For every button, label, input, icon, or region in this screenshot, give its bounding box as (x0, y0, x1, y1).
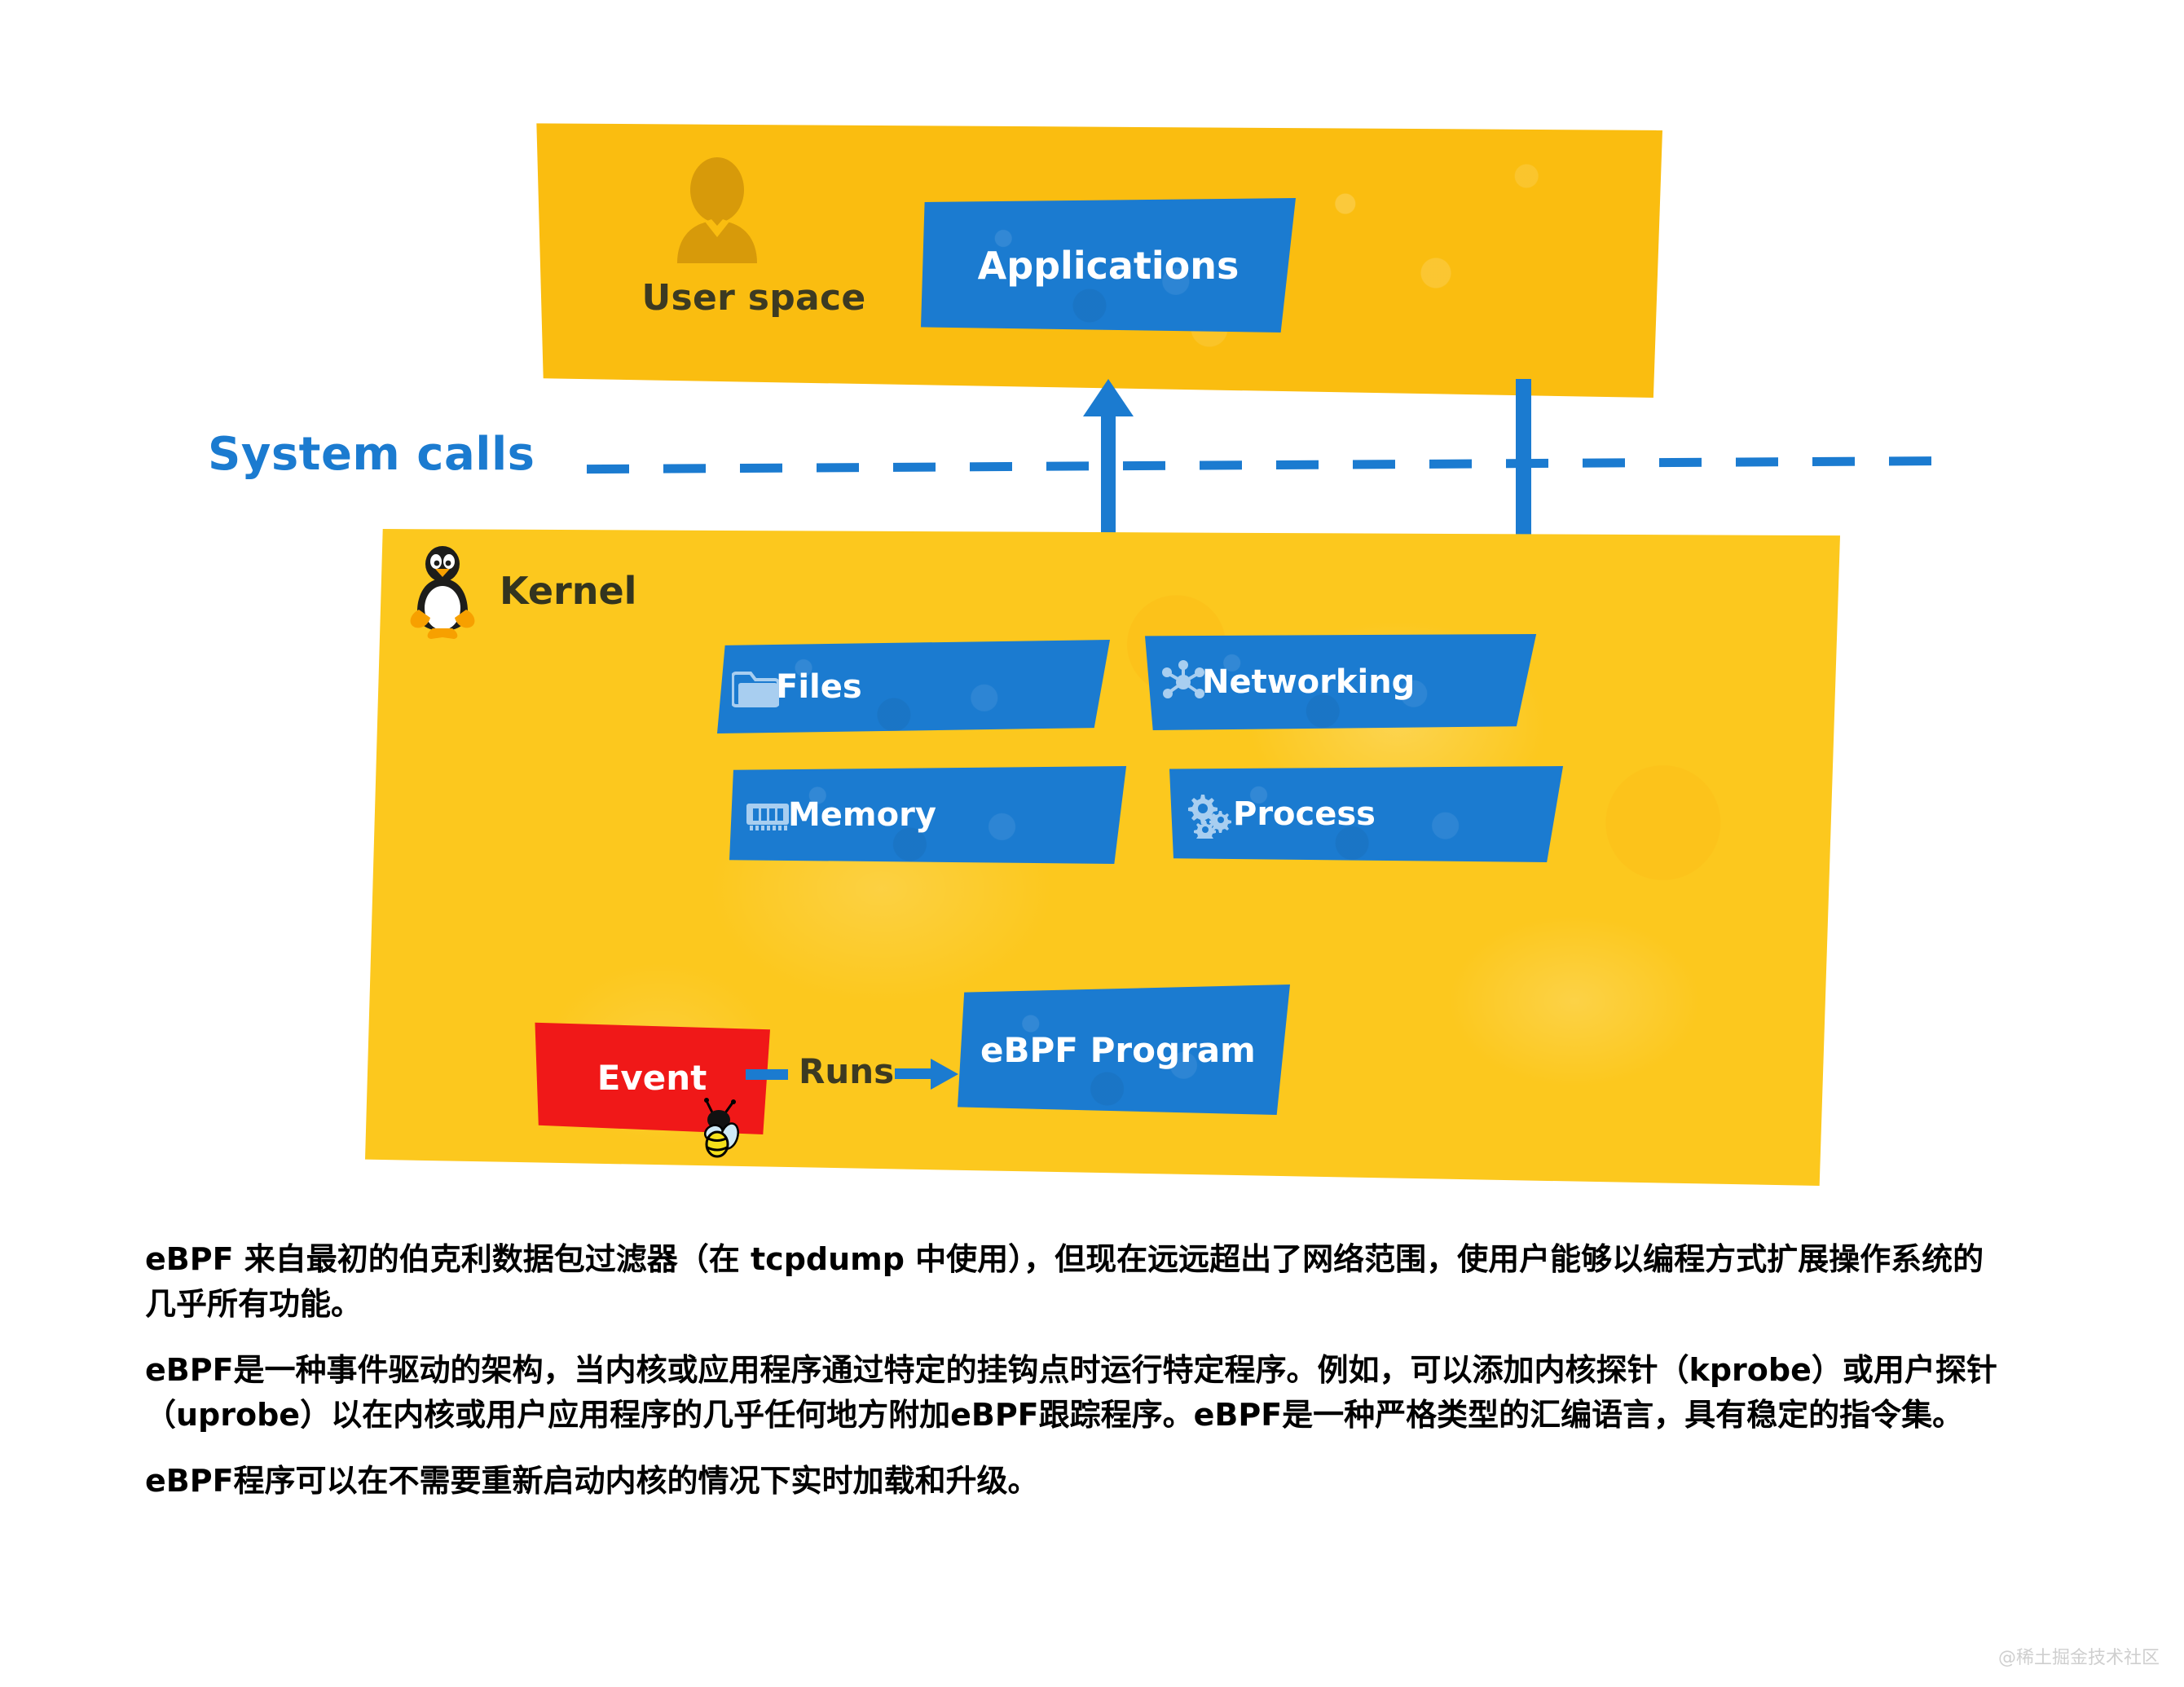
bee-icon (689, 1096, 754, 1161)
article-body: eBPF 来自最初的伯克利数据包过滤器（在 tcpdump 中使用），但现在远远… (145, 1237, 2011, 1525)
system-calls-label: System calls (208, 428, 535, 481)
paragraph-2: eBPF是一种事件驱动的架构，当内核或应用程序通过特定的挂钩点时运行特定程序。例… (145, 1348, 2011, 1438)
paragraph-3: eBPF程序可以在不需要重新启动内核的情况下实时加载和升级。 (145, 1459, 2011, 1504)
gears-icon (1184, 790, 1233, 839)
runs-label: Runs (799, 1051, 894, 1091)
paragraph-1: eBPF 来自最初的伯克利数据包过滤器（在 tcpdump 中使用），但现在远远… (145, 1237, 2011, 1327)
process-label: Process (1233, 795, 1376, 833)
networking-box[interactable]: Networking (1145, 634, 1540, 730)
folder-icon (732, 663, 779, 711)
diagram-stage: User space Applications System calls Inj… (0, 0, 2184, 1687)
linux-penguin-icon (406, 546, 479, 640)
runs-dash (746, 1069, 788, 1080)
ebpf-program-label: eBPF Program (980, 1030, 1256, 1070)
applications-box[interactable]: Applications (921, 198, 1296, 333)
networking-label: Networking (1202, 663, 1415, 701)
files-box[interactable]: Files (717, 640, 1110, 733)
process-box[interactable]: Process (1169, 766, 1575, 862)
runs-arrow (895, 1050, 960, 1099)
event-label: Event (597, 1058, 707, 1098)
memory-box[interactable]: Memory (729, 766, 1130, 864)
watermark: @稀土掘金技术社区 (1998, 1643, 2160, 1669)
user-icon (672, 157, 762, 263)
user-space-label: User space (632, 277, 876, 319)
applications-label: Applications (978, 244, 1240, 288)
ebpf-program-box[interactable]: eBPF Program (958, 984, 1290, 1115)
files-label: Files (776, 668, 862, 706)
kernel-label: Kernel (500, 569, 636, 613)
network-nodes-icon (1160, 659, 1207, 706)
ram-stick-icon (744, 791, 791, 839)
memory-label: Memory (788, 796, 936, 834)
